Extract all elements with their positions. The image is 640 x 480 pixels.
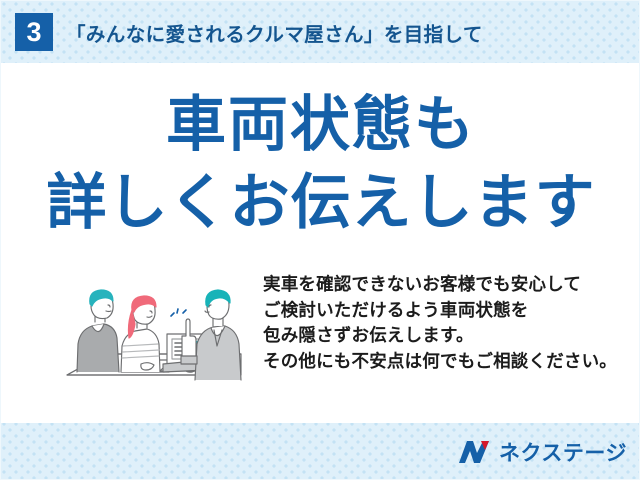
body-line-3: 包み隠さずお伝えします。 [263, 323, 635, 349]
content-panel: 車両状態も 詳しくお伝えします [1, 63, 640, 423]
brand-name: ネクステージ [499, 437, 627, 467]
consultation-illustration [59, 272, 249, 392]
headline-line-2: 詳しくお伝えします [1, 173, 640, 233]
advertisement-canvas: 3 「みんなに愛されるクルマ屋さん」を目指して 車両状態も 詳しくお伝えします [0, 0, 640, 480]
consultation-scene-icon [59, 272, 249, 392]
body-copy: 実車を確認できないお客様でも安心して ご検討いただけるよう車両状態を 包み隠さず… [263, 272, 635, 374]
brand-logo: ネクステージ [458, 437, 627, 467]
footer-bar: ネクステージ [1, 423, 640, 480]
body-line-1: 実車を確認できないお客様でも安心して [263, 272, 635, 298]
lower-row: 実車を確認できないお客様でも安心して ご検討いただけるよう車両状態を 包み隠さず… [1, 270, 640, 420]
header-bar: 3 「みんなに愛されるクルマ屋さん」を目指して [1, 1, 640, 63]
header-title: 「みんなに愛されるクルマ屋さん」を目指して [66, 18, 483, 47]
nextage-n-mark-icon [458, 439, 492, 465]
step-number-badge: 3 [15, 13, 53, 51]
headline-line-1: 車両状態も [1, 95, 640, 155]
headline-block: 車両状態も 詳しくお伝えします [1, 95, 640, 233]
body-line-4: その他にも不安点は何でもご相談ください。 [263, 349, 635, 375]
body-line-2: ご検討いただけるよう車両状態を [263, 298, 635, 324]
